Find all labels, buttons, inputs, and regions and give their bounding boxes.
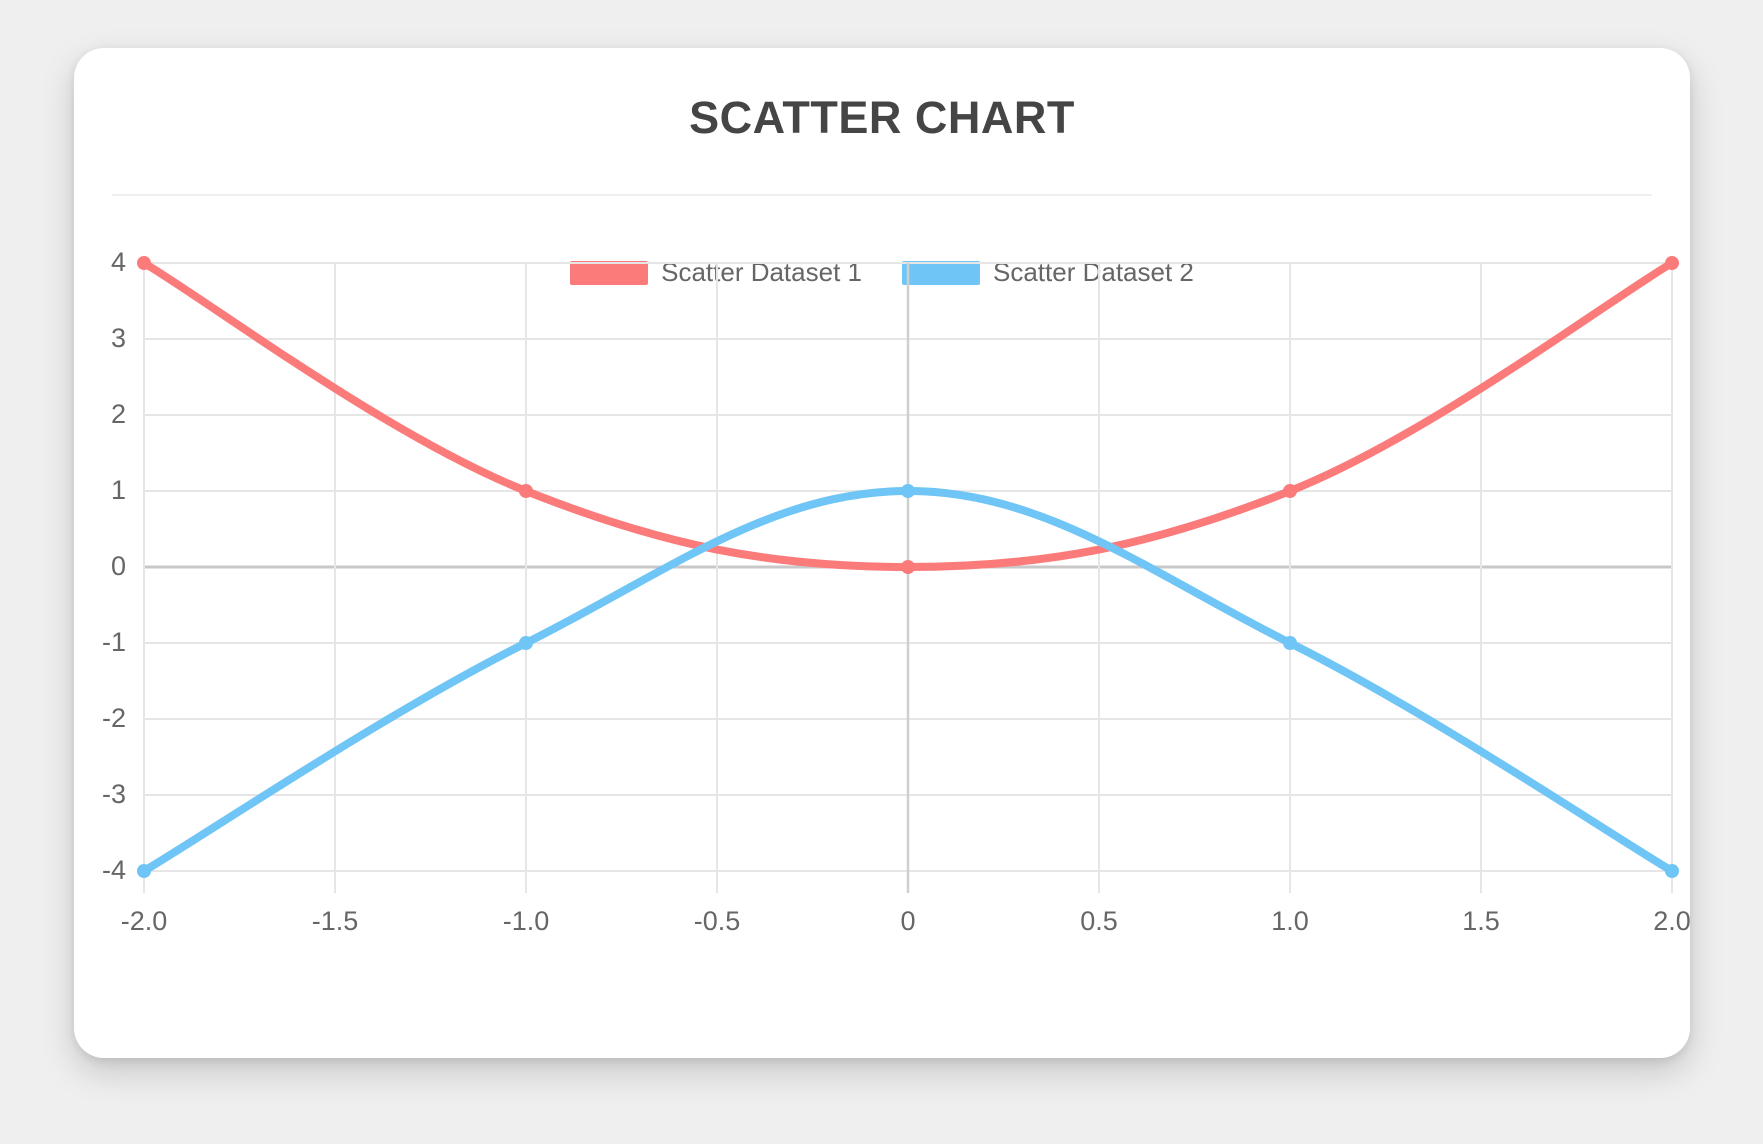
data-point[interactable]: [519, 484, 533, 498]
scatter-chart-canvas[interactable]: 43210-1-2-3-4-2.0-1.5-1.0-0.500.51.01.52…: [74, 48, 1690, 1058]
y-axis-tick-label: 1: [111, 475, 126, 505]
title-divider: [112, 194, 1652, 196]
x-axis-tick-label: -2.0: [121, 906, 168, 936]
y-axis-tick-label: 0: [111, 551, 126, 581]
data-point[interactable]: [901, 560, 915, 574]
plot-area: 43210-1-2-3-4-2.0-1.5-1.0-0.500.51.01.52…: [74, 48, 1690, 1058]
x-axis-tick-label: 0: [900, 906, 915, 936]
data-point[interactable]: [1665, 864, 1679, 878]
y-axis-tick-label: 3: [111, 323, 126, 353]
series-line-1: [144, 263, 1672, 567]
x-axis-tick-label: -0.5: [694, 906, 741, 936]
data-point[interactable]: [137, 864, 151, 878]
x-axis-tick-label: -1.5: [312, 906, 359, 936]
y-axis-tick-label: -4: [102, 855, 126, 885]
x-axis-tick-label: 2.0: [1653, 906, 1690, 936]
chart-legend: Scatter Dataset 1 Scatter Dataset 2: [74, 257, 1690, 288]
y-axis-tick-label: -3: [102, 779, 126, 809]
legend-label-dataset-1: Scatter Dataset 1: [661, 257, 862, 288]
page-root: SCATTER CHART Scatter Dataset 1 Scatter …: [0, 0, 1763, 1144]
y-axis-tick-label: 2: [111, 399, 126, 429]
legend-item-dataset-2[interactable]: Scatter Dataset 2: [902, 257, 1194, 288]
data-point[interactable]: [1283, 484, 1297, 498]
data-point[interactable]: [1283, 636, 1297, 650]
x-axis-tick-label: 1.0: [1271, 906, 1309, 936]
legend-label-dataset-2: Scatter Dataset 2: [993, 257, 1194, 288]
x-axis-tick-label: -1.0: [503, 906, 550, 936]
data-point[interactable]: [901, 484, 915, 498]
legend-item-dataset-1[interactable]: Scatter Dataset 1: [570, 257, 862, 288]
page-title: SCATTER CHART: [74, 92, 1690, 144]
data-point[interactable]: [519, 636, 533, 650]
chart-card: SCATTER CHART Scatter Dataset 1 Scatter …: [74, 48, 1690, 1058]
y-axis-tick-label: -2: [102, 703, 126, 733]
x-axis-tick-label: 0.5: [1080, 906, 1118, 936]
series-line-2: [144, 491, 1672, 871]
y-axis-tick-label: -1: [102, 627, 126, 657]
x-axis-tick-label: 1.5: [1462, 906, 1500, 936]
legend-swatch-icon-dataset-1: [570, 261, 648, 285]
legend-swatch-icon-dataset-2: [902, 261, 980, 285]
